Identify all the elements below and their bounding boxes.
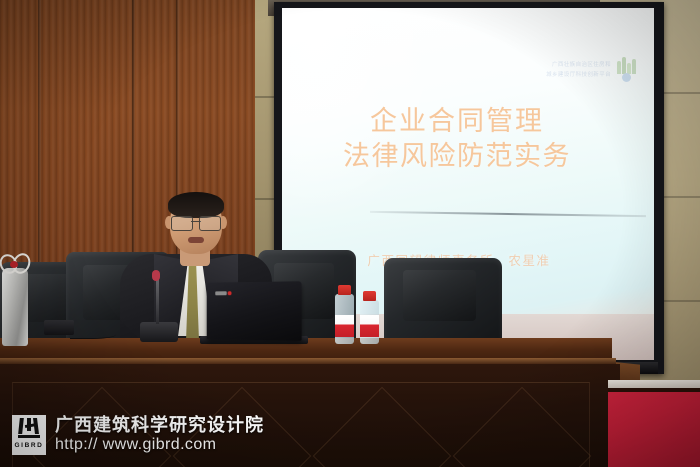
photo-scene: 广西壮族自治区住房和 城乡建设厅科技创新平台 企业合同管理 法律风险防范实务 广… bbox=[0, 0, 700, 467]
bottle-cap bbox=[363, 291, 376, 301]
blue-dot-icon bbox=[622, 73, 631, 82]
diamond-motif bbox=[313, 387, 452, 467]
watermark-organization: 广西建筑科学研究设计院 bbox=[55, 416, 264, 435]
chair bbox=[384, 258, 502, 346]
red-carpet-floor bbox=[608, 388, 700, 467]
leaf-logo-icon bbox=[616, 56, 638, 82]
slide-title: 企业合同管理 法律风险防范实务 bbox=[282, 104, 632, 173]
water-bottle bbox=[360, 300, 379, 344]
gibrd-glyph-icon bbox=[16, 417, 42, 441]
slide-corner-logo: 广西壮族自治区住房和 城乡建设厅科技创新平台 bbox=[546, 56, 638, 82]
slide-logo-line-1: 广西壮族自治区住房和 bbox=[552, 60, 611, 68]
bottle-label bbox=[335, 315, 354, 337]
diamond-motif bbox=[453, 387, 592, 467]
watermark: GIBRD 广西建筑科学研究设计院 http:// www.gibrd.com bbox=[12, 415, 264, 455]
slide-title-line-1: 企业合同管理 bbox=[282, 104, 632, 139]
bottle-cap bbox=[338, 285, 351, 295]
water-bottle bbox=[335, 294, 354, 344]
gibrd-logo-icon: GIBRD bbox=[12, 415, 46, 455]
bottle-group bbox=[0, 292, 400, 344]
mouth bbox=[188, 237, 204, 243]
eyeglasses-icon bbox=[171, 216, 221, 229]
gibrd-mark-text: GIBRD bbox=[15, 443, 44, 450]
microphone-head bbox=[152, 270, 160, 281]
slide-logo-line-2: 城乡建设厅科技创新平台 bbox=[546, 70, 611, 78]
slide-title-line-2: 法律风险防范实务 bbox=[282, 139, 632, 174]
hair bbox=[168, 192, 224, 218]
watermark-url: http:// www.gibrd.com bbox=[55, 436, 264, 454]
ribbon-decoration bbox=[0, 252, 32, 274]
bottle-label bbox=[360, 315, 379, 337]
floor-trim bbox=[608, 388, 700, 392]
